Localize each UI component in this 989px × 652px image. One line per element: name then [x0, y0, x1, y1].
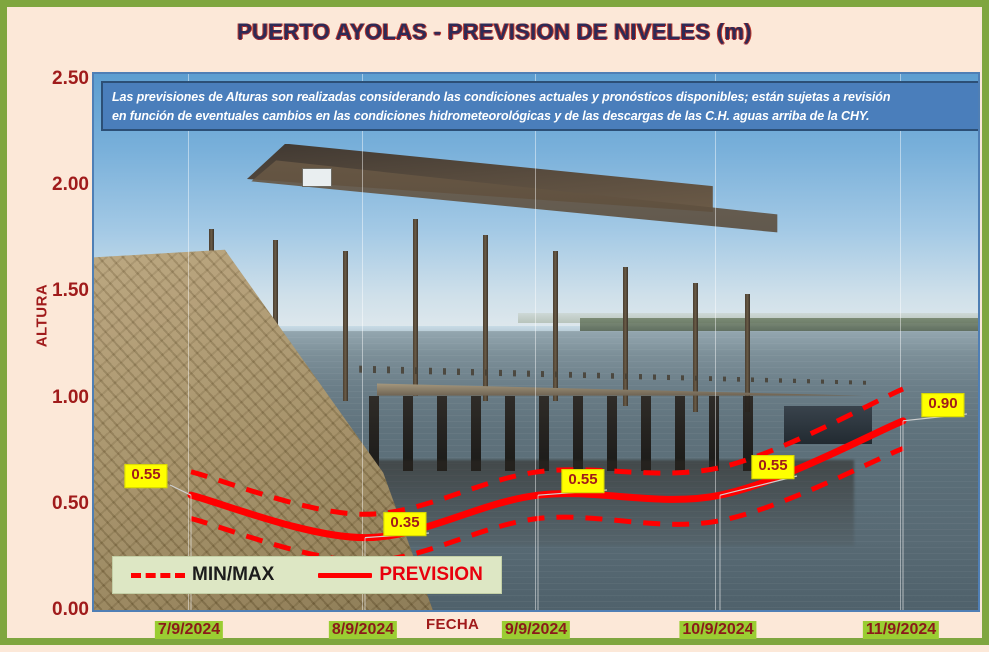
disclaimer-line-1: Las previsiones de Alturas son realizada…	[112, 88, 969, 107]
y-tick-label: 2.00	[19, 174, 89, 196]
leader-line	[170, 485, 191, 495]
disclaimer-line-2: en función de eventuales cambios en las …	[112, 107, 969, 126]
data-label: 0.35	[383, 512, 426, 536]
legend-item-prevision[interactable]: PREVISION	[318, 564, 482, 586]
series-line-min	[191, 448, 903, 561]
x-tick-label: 11/9/2024	[863, 621, 939, 639]
legend-label-minmax: MIN/MAX	[192, 564, 274, 586]
leader-line	[720, 476, 797, 495]
data-label: 0.55	[124, 464, 167, 488]
y-tick-label: 1.50	[19, 280, 89, 302]
chart-page: PUERTO AYOLAS - PREVISION DE NIVELES (m)…	[0, 0, 989, 645]
legend-item-minmax[interactable]: MIN/MAX	[131, 564, 274, 586]
data-label: 0.55	[561, 469, 604, 493]
dashed-line-icon	[131, 573, 185, 578]
x-tick-label: 10/9/2024	[679, 621, 756, 639]
x-tick-label: 8/9/2024	[329, 621, 397, 639]
y-tick-label: 2.50	[19, 68, 89, 90]
y-tick-label: 1.00	[19, 387, 89, 409]
y-tick-label: 0.00	[19, 599, 89, 621]
x-tick-label: 7/9/2024	[155, 621, 223, 639]
plot-area: 0.55 0.35 0.55 0.55 0.90 MIN/MAX PREVISI…	[92, 72, 980, 612]
solid-line-icon	[318, 573, 372, 578]
legend-label-prevision: PREVISION	[379, 564, 482, 586]
data-label: 0.55	[751, 455, 794, 479]
series-lines	[94, 74, 980, 612]
disclaimer-note: Las previsiones de Alturas son realizada…	[101, 81, 980, 131]
y-tick-label: 0.50	[19, 493, 89, 515]
y-axis-title: ALTURA	[34, 271, 51, 361]
data-label: 0.90	[921, 393, 964, 417]
x-axis-title: FECHA	[426, 616, 479, 633]
x-tick-label: 9/9/2024	[502, 621, 570, 639]
chart-legend[interactable]: MIN/MAX PREVISION	[112, 556, 502, 594]
page-title: PUERTO AYOLAS - PREVISION DE NIVELES (m)	[7, 19, 982, 45]
